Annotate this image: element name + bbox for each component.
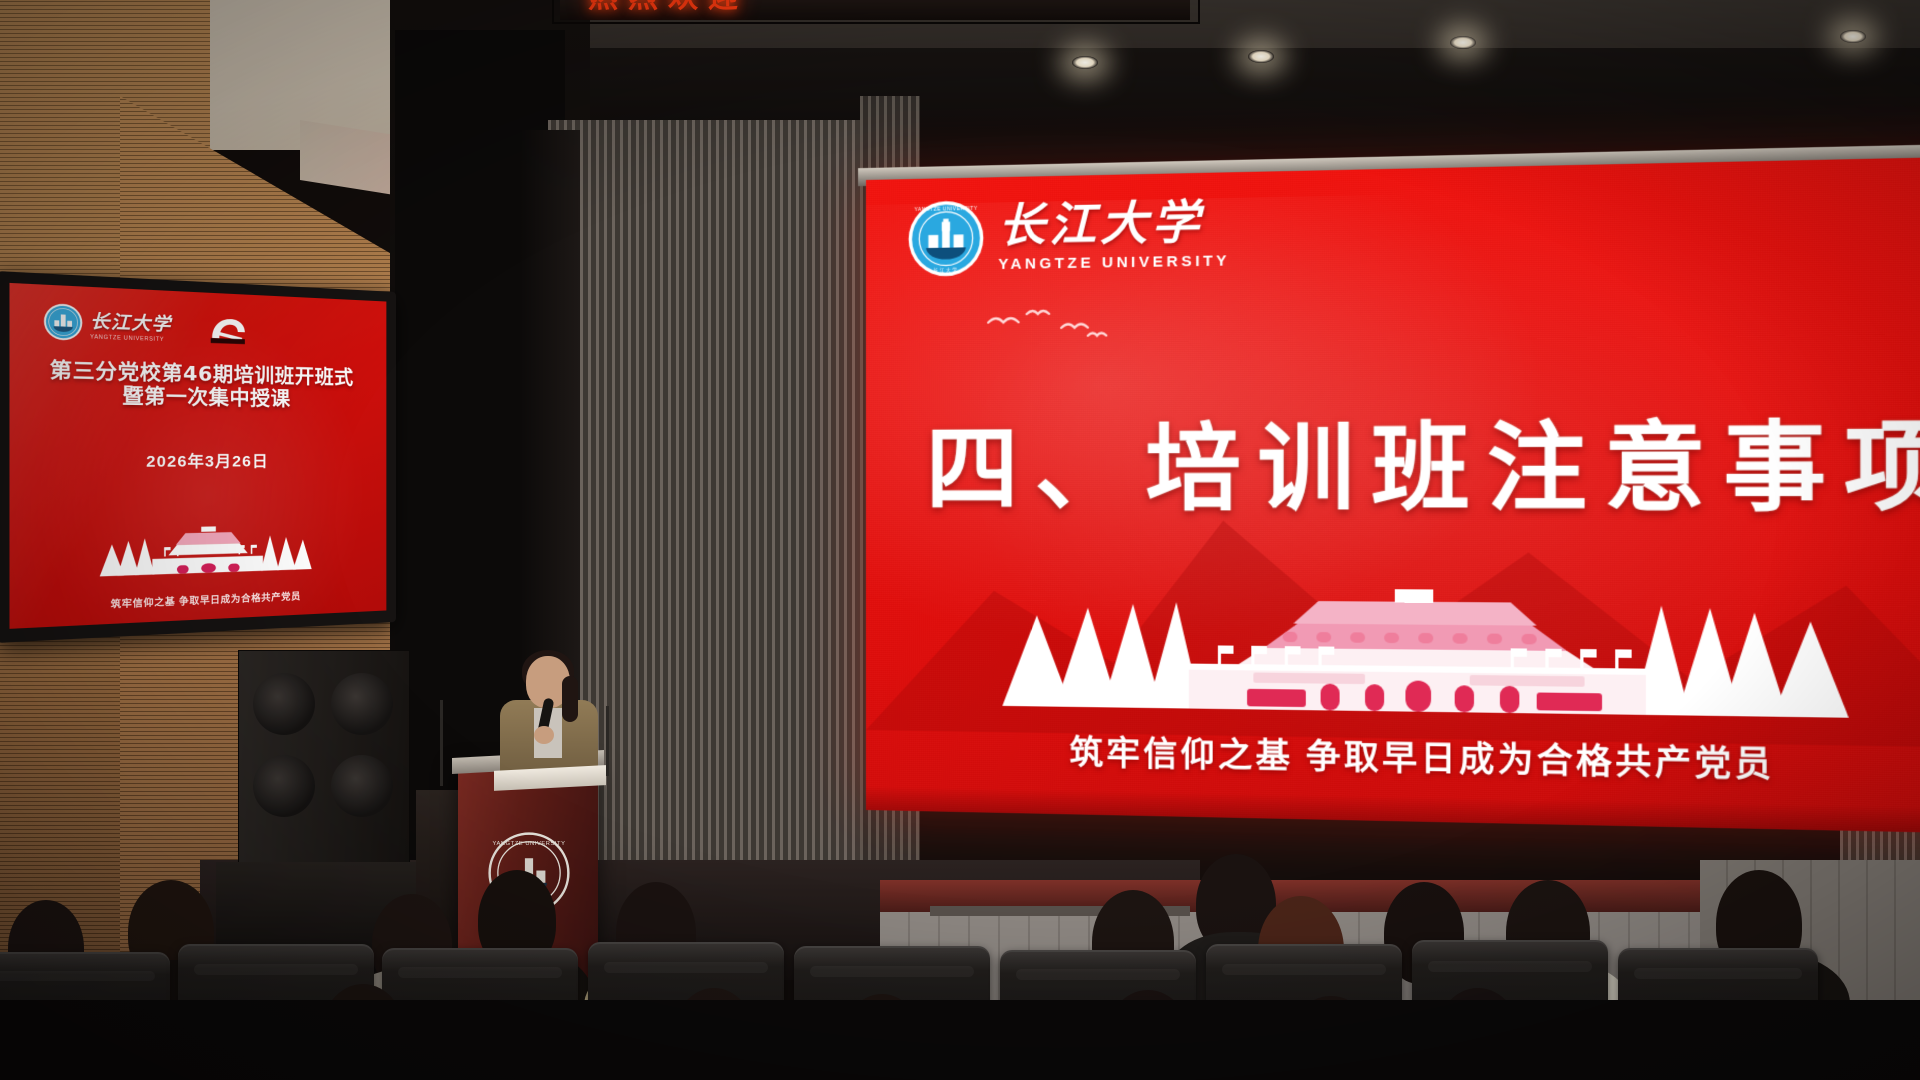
tv-event-date: 2026年3月26日 (9, 449, 386, 473)
ceiling-light (1072, 56, 1098, 69)
ceiling-light (1450, 36, 1476, 49)
tiananmen-gate-icon (91, 513, 318, 581)
tv-slogan: 筑牢信仰之基 争取早日成为合格共产党员 (9, 585, 386, 615)
tv-wordmark: 长江大学 YANGTZE UNIVERSITY (90, 306, 171, 344)
yangtze-university-seal-icon (43, 302, 83, 341)
slide-title: 四、培训班注意事项 (926, 387, 1920, 530)
ceiling-light (1840, 30, 1866, 43)
tv-screen: 长江大学 YANGTZE UNIVERSITY 第三分党校第46期培训班开班式 … (9, 283, 386, 629)
speaker-hair-side (562, 676, 578, 722)
led-banner-frame (552, 0, 1200, 24)
tv-university-logo: 长江大学 YANGTZE UNIVERSITY (43, 302, 171, 344)
main-wordmark: 长江大学 YANGTZE UNIVERSITY (998, 198, 1230, 272)
svg-text:YANGTZE UNIVERSITY: YANGTZE UNIVERSITY (914, 206, 977, 213)
auditorium-scene: 热烈欢迎 长江大学 YANGTZE UNIVERSITY (0, 0, 1920, 1080)
speaker-hand (534, 726, 554, 744)
side-display-tv: 长江大学 YANGTZE UNIVERSITY 第三分党校第46期培训班开班式 … (0, 271, 396, 643)
microphone-stand-left (440, 700, 443, 786)
microphone-stand-right (606, 706, 609, 776)
flying-birds-icon (982, 304, 1156, 353)
screen-surface: YANGTZE UNIVERSITY 长江大学 长江大学 YANGTZE UNI… (866, 156, 1920, 834)
ceiling-light (1248, 50, 1274, 63)
yangtze-university-seal-icon: YANGTZE UNIVERSITY 长江大学 (908, 200, 984, 278)
floor-shadow (0, 1000, 1920, 1080)
tv-event-title: 第三分党校第46期培训班开班式 暨第一次集中授课 (9, 357, 386, 413)
tiananmen-gate-icon (988, 559, 1864, 723)
main-led-screen: YANGTZE UNIVERSITY 长江大学 长江大学 YANGTZE UNI… (866, 156, 1920, 834)
cpc-hammer-sickle-icon (206, 314, 249, 345)
speaker-at-podium (496, 656, 602, 778)
main-university-logo: YANGTZE UNIVERSITY 长江大学 长江大学 YANGTZE UNI… (908, 195, 1230, 278)
